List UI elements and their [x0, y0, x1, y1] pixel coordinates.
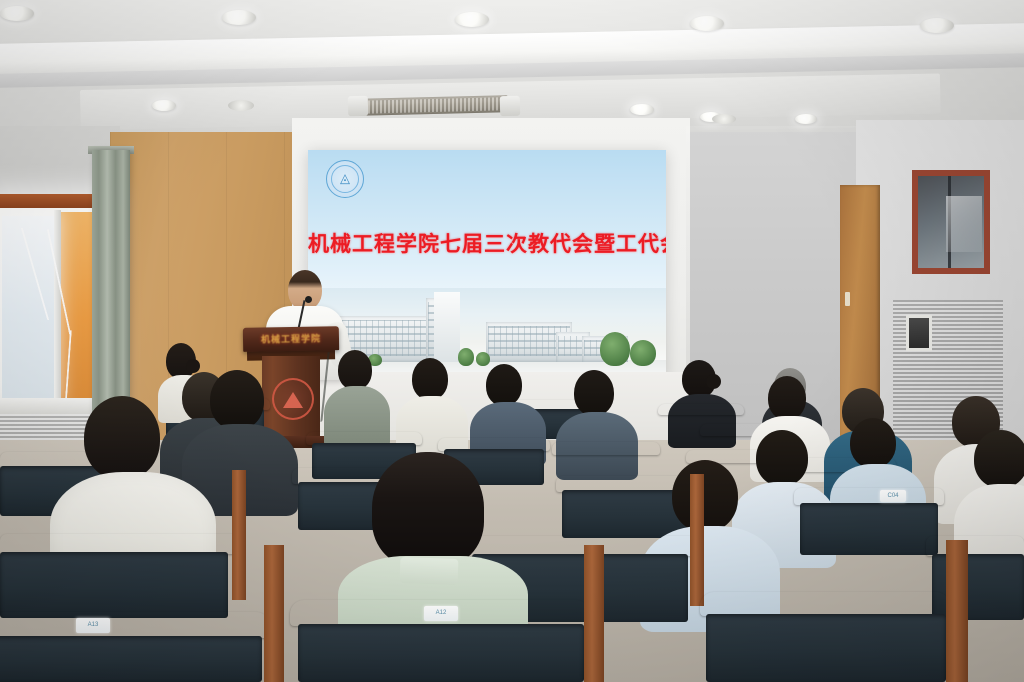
seat-number-tag: A13	[76, 618, 110, 633]
window-glass-highlight	[946, 196, 982, 252]
attendee-hair-bun	[706, 374, 721, 389]
speaker-head	[288, 270, 322, 310]
crest-triangle	[283, 392, 303, 408]
chair-vertical-post	[584, 545, 604, 682]
ceiling-downlight	[795, 114, 817, 124]
slide-tree	[476, 352, 490, 366]
ceiling-downlight	[222, 10, 256, 25]
wall-control-panel[interactable]	[906, 315, 932, 351]
podium-banner-text: 机械工程学院	[243, 331, 339, 346]
chair-back-rail[interactable]	[658, 404, 744, 415]
chair-vertical-post	[946, 540, 968, 682]
slide-tree	[630, 340, 656, 366]
ceiling-downlight	[630, 104, 654, 115]
podium-crest-icon	[272, 378, 314, 420]
projection-screen: ◬ 机械工程学院七届三次教代会暨工代会	[308, 150, 666, 378]
chair-vertical-post	[264, 545, 284, 682]
attendee-head	[850, 418, 896, 468]
attendee-head	[486, 364, 522, 406]
ceiling-downlight	[0, 6, 34, 21]
chair-back-rail-front[interactable]	[700, 592, 950, 616]
chair-back-pad[interactable]	[0, 552, 228, 618]
ceiling-downlight	[690, 16, 724, 31]
attendee-head	[974, 430, 1024, 488]
chair-back-pad[interactable]	[562, 490, 690, 538]
seat-number-tag: A12	[424, 606, 458, 621]
attendee-head	[672, 460, 738, 532]
ceiling-speaker-grille	[712, 114, 736, 124]
attendee-collar	[400, 557, 459, 585]
chair-vertical-post	[232, 470, 246, 600]
attendee-hair-bun	[186, 359, 200, 373]
ceiling-speaker-grille	[228, 100, 254, 111]
seat-number-text: A12	[424, 606, 458, 621]
vent-end-cap	[348, 96, 368, 116]
window-mullion	[54, 210, 61, 406]
seat-number-tag: C04	[880, 490, 906, 502]
chair-back-pad-front[interactable]	[706, 614, 946, 682]
chair-back-rail[interactable]	[466, 536, 696, 556]
window-left-glass	[2, 216, 54, 398]
chair-back-pad[interactable]	[800, 503, 938, 555]
conference-room-photo: ◬ 机械工程学院七届三次教代会暨工代会 机械工程学院	[0, 0, 1024, 682]
slide-tree	[600, 332, 630, 366]
attendee-head	[372, 452, 484, 568]
slide-tower	[434, 292, 460, 362]
ceiling-downlight	[455, 12, 489, 27]
seat-number-text: A13	[76, 618, 110, 633]
attendee-head	[412, 358, 448, 400]
chair-back-rail[interactable]	[0, 534, 240, 554]
chair-back-rail[interactable]	[552, 442, 660, 455]
seat-number-text: C04	[880, 490, 906, 502]
ceiling-downlight	[920, 18, 954, 33]
slide-title: 机械工程学院七届三次教代会暨工代会	[308, 228, 666, 258]
chair-back-pad-front[interactable]	[298, 624, 584, 682]
seal-mark: ◬	[340, 173, 350, 186]
door-handle[interactable]	[845, 292, 850, 306]
podium-top: 机械工程学院	[243, 326, 339, 352]
attendee-head	[84, 396, 160, 480]
chair-back-rail[interactable]	[926, 536, 1024, 556]
attendee-head	[338, 350, 372, 390]
podium-microphone-head	[305, 296, 312, 303]
vent-end-cap	[500, 96, 520, 116]
slide-tree	[458, 348, 474, 366]
chair-vertical-post	[690, 474, 704, 606]
attendee-head	[210, 370, 264, 430]
ceiling-downlight	[152, 100, 176, 111]
attendee-head	[574, 370, 614, 416]
attendee-head	[768, 376, 806, 420]
attendee-torso	[668, 394, 736, 448]
university-seal-logo: ◬	[326, 160, 364, 198]
chair-back-pad-front[interactable]	[0, 636, 262, 682]
chair-back-rail-front[interactable]	[0, 612, 270, 638]
attendee-head	[756, 430, 808, 486]
